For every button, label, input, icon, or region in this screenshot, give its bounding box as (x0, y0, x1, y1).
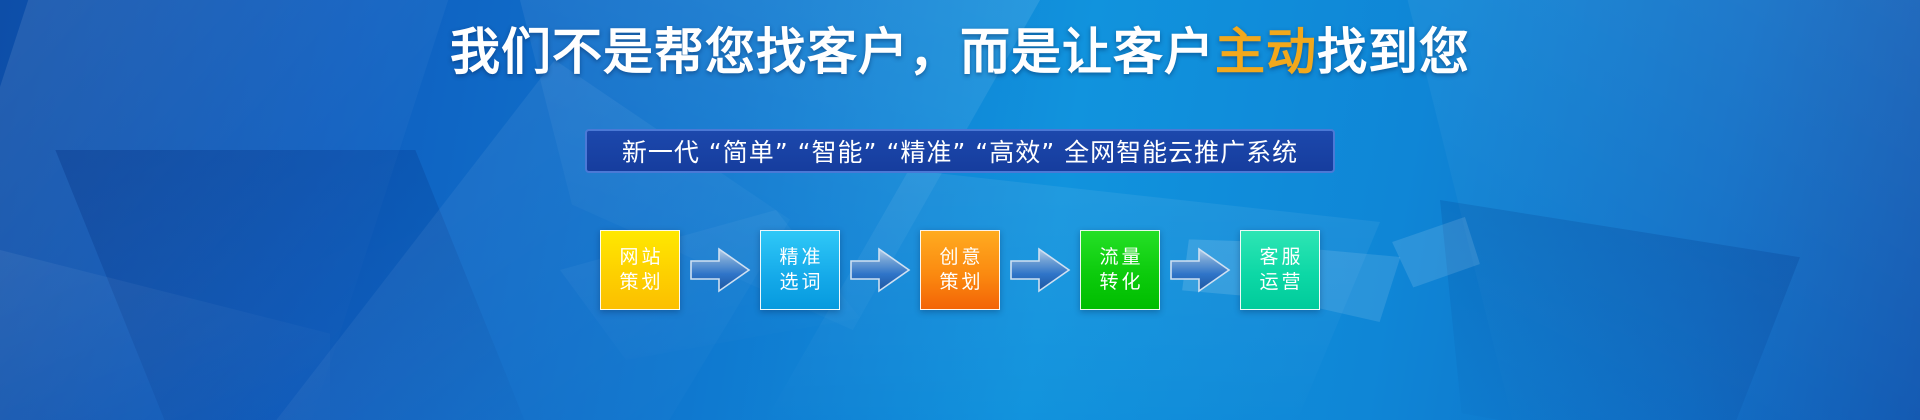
flow-step-label-line2: 选词 (776, 270, 823, 295)
flow-step-customer-service[interactable]: 客服 运营 (1240, 230, 1320, 310)
promo-banner: 我们不是帮您找客户，而是让客户主动找到您 新一代 “简单” “智能” “精准” … (0, 0, 1920, 420)
headline-part-2: 找到您 (1317, 23, 1470, 81)
flow-step-label-line2: 策划 (616, 270, 663, 295)
process-flow: 网站 策划 精准 选词 (600, 230, 1320, 310)
right-chevron-arrow-icon (847, 244, 913, 296)
flow-step-traffic-conversion[interactable]: 流量 转化 (1080, 230, 1160, 310)
headline-part-1: 我们不是帮您找客户，而是让客户 (450, 23, 1215, 81)
flow-step-label-line2: 转化 (1096, 270, 1143, 295)
flow-step-website-planning[interactable]: 网站 策划 (600, 230, 680, 310)
subtitle-text: 新一代 “简单” “智能” “精准” “高效” 全网智能云推广系统 (622, 133, 1298, 169)
flow-step-label-line1: 流量 (1096, 245, 1143, 270)
flow-step-label-line1: 精准 (776, 245, 823, 270)
flow-step-label-line2: 运营 (1256, 270, 1303, 295)
flow-step-label-line1: 客服 (1256, 245, 1303, 270)
right-chevron-arrow-icon (1167, 244, 1233, 296)
headline-accent-text: 主动 (1215, 23, 1317, 81)
flow-step-label-line1: 网站 (616, 245, 663, 270)
banner-headline: 我们不是帮您找客户，而是让客户主动找到您 (0, 22, 1920, 82)
flow-step-creative-planning[interactable]: 创意 策划 (920, 230, 1000, 310)
subtitle-bar: 新一代 “简单” “智能” “精准” “高效” 全网智能云推广系统 (585, 129, 1335, 173)
right-chevron-arrow-icon (1007, 244, 1073, 296)
flow-step-label-line2: 策划 (936, 270, 983, 295)
right-chevron-arrow-icon (687, 244, 753, 296)
flow-step-keyword-selection[interactable]: 精准 选词 (760, 230, 840, 310)
flow-step-label-line1: 创意 (936, 245, 983, 270)
